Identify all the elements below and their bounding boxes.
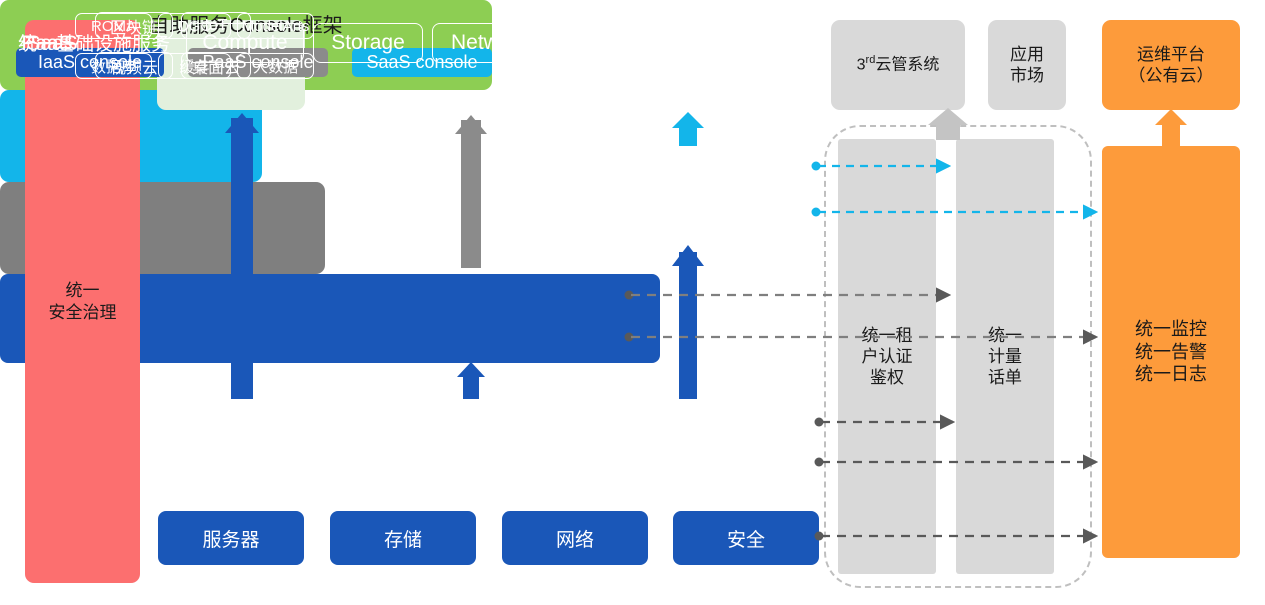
architecture-diagram: 统一 安全治理 API网关 自助服务Console框架 IaaS console… [0, 0, 1265, 605]
hardware-block-security[interactable]: 安全 [673, 511, 819, 565]
auth-column-line2: 户认证 [862, 346, 913, 367]
security-governance-line1: 统一 [49, 280, 117, 301]
third-party-cloud-mgmt-block[interactable]: 3rd云管系统 [831, 20, 965, 110]
ops-platform-block[interactable]: 运维平台 （公有云） [1102, 20, 1240, 110]
arrow-ops-column-to-ops-platform [1155, 109, 1187, 146]
ops-platform-line1: 运维平台 [1129, 44, 1214, 65]
ops-monitoring-column[interactable]: 统一监控 统一告警 统一日志 [1102, 146, 1240, 558]
app-market-line2: 市场 [1010, 65, 1044, 86]
ops-column-line2: 统一告警 [1135, 341, 1207, 364]
ops-column-line3: 统一日志 [1135, 363, 1207, 386]
hardware-block-storage[interactable]: 存储 [330, 511, 476, 565]
infra-chip-network[interactable]: Network [432, 23, 547, 63]
infra-chip-storage[interactable]: Storage [313, 23, 423, 63]
security-governance-line2: 安全治理 [49, 302, 117, 323]
unified-metering-column[interactable]: 统一 计量 话单 [956, 139, 1054, 574]
unified-infrastructure-label: 统一基础设施服务 [18, 29, 198, 56]
hardware-block-network[interactable]: 网络 [502, 511, 648, 565]
arrow-paas-to-console [455, 115, 487, 268]
infra-chip-compute[interactable]: Compute [186, 23, 304, 63]
ops-column-line1: 统一监控 [1135, 318, 1207, 341]
ops-platform-line2: （公有云） [1129, 65, 1214, 86]
arrow-infra-to-paas [457, 362, 485, 399]
metering-column-line1: 统一 [988, 325, 1022, 346]
app-market-block[interactable]: 应用 市场 [988, 20, 1066, 110]
metering-column-line2: 计量 [988, 346, 1022, 367]
hardware-block-server[interactable]: 服务器 [158, 511, 304, 565]
unified-tenant-auth-column[interactable]: 统一租 户认证 鉴权 [838, 139, 936, 574]
auth-column-line1: 统一租 [862, 325, 913, 346]
arrow-saas-to-saas-console [672, 112, 704, 146]
infra-chip-cce[interactable]: CCE [556, 23, 651, 63]
third-party-cloud-mgmt-label: 3rd云管系统 [857, 54, 940, 75]
arrow-infra-to-saas [672, 245, 704, 399]
security-governance-block[interactable]: 统一 安全治理 [25, 20, 140, 583]
metering-column-line3: 话单 [988, 367, 1022, 388]
paas-chip-database[interactable]: 数据库 [75, 53, 152, 79]
app-market-line1: 应用 [1010, 44, 1044, 65]
auth-column-line3: 鉴权 [862, 367, 913, 388]
